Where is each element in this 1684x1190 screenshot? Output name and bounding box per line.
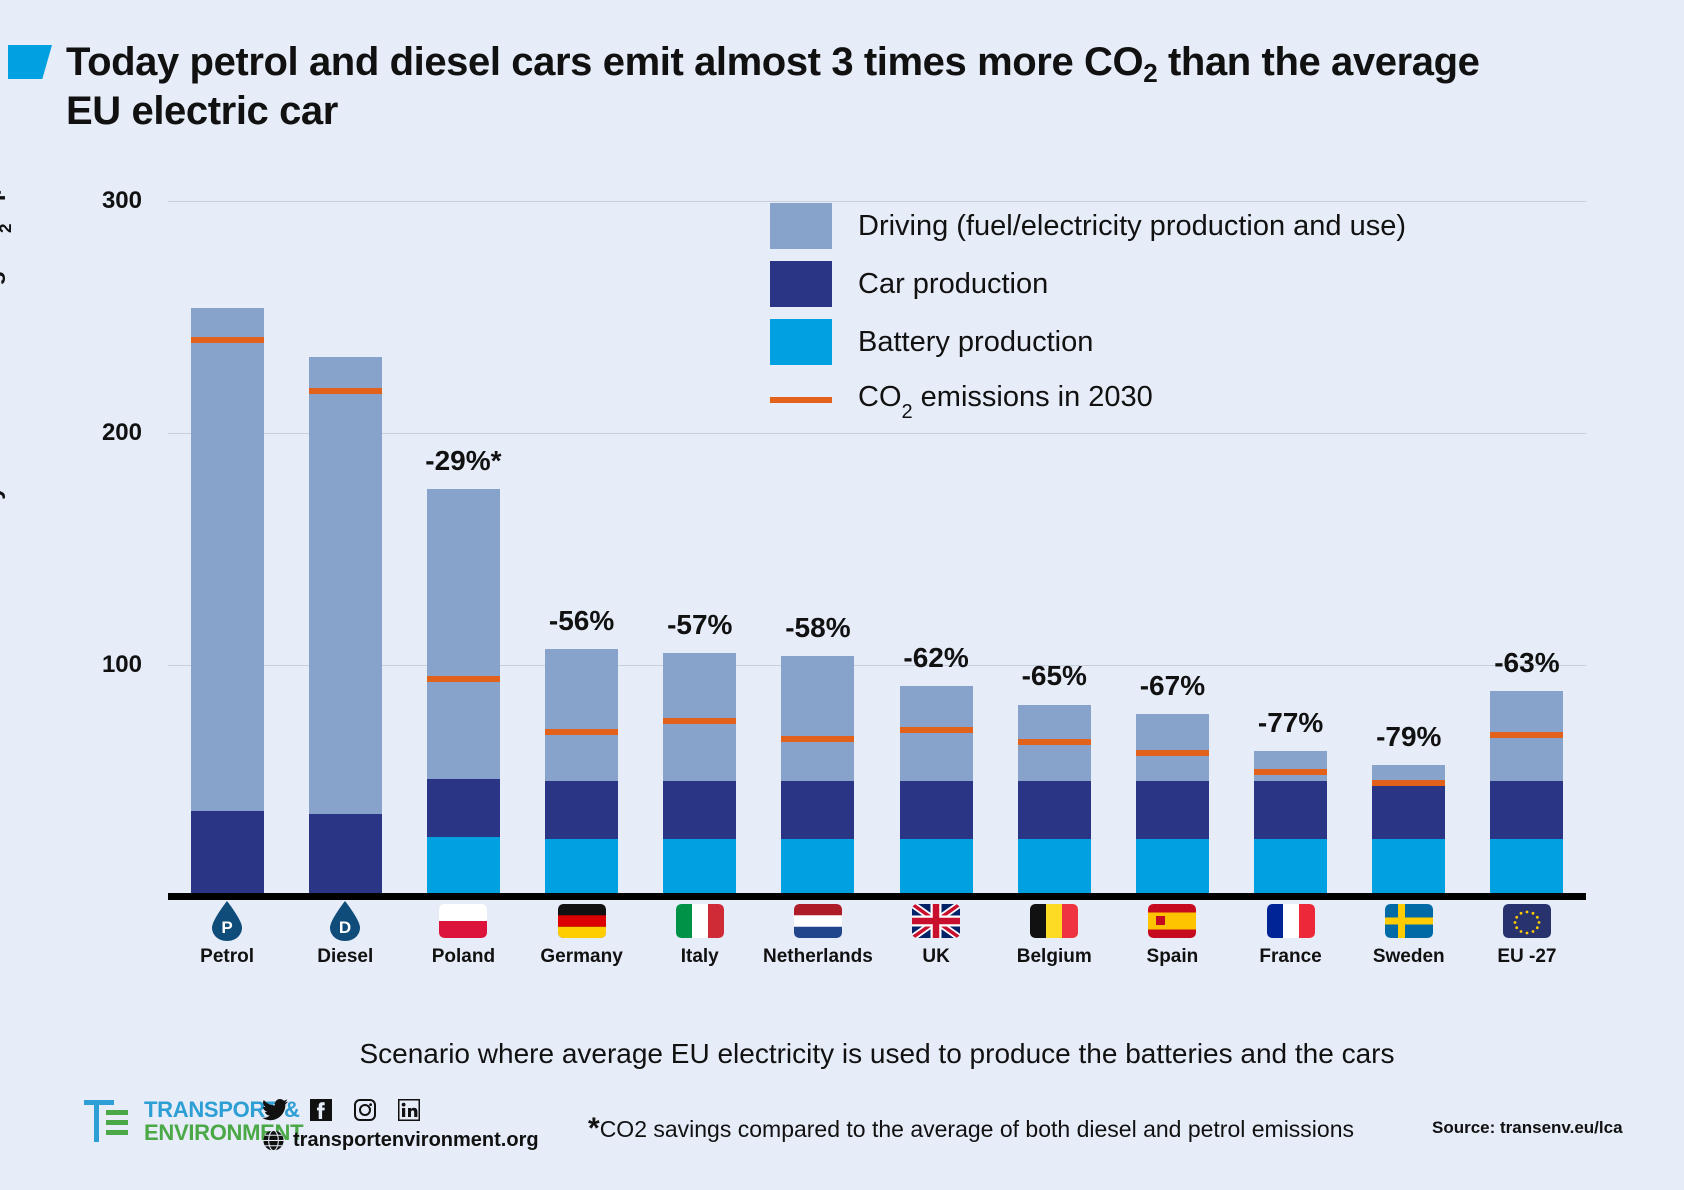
title-subscript: 2 xyxy=(1143,58,1157,88)
segment-driving xyxy=(545,649,618,781)
flag-uk xyxy=(912,904,960,938)
segment-battery-production xyxy=(1136,839,1209,897)
co2-2030-marker xyxy=(545,729,618,735)
segment-driving xyxy=(1254,751,1327,781)
flag-italy xyxy=(676,904,724,938)
segment-battery-production xyxy=(663,839,736,897)
bar-italy[interactable] xyxy=(663,653,736,897)
y-tick-label-200: 200 xyxy=(102,419,142,447)
footnote: *CO2 savings compared to the average of … xyxy=(588,1112,1354,1146)
segment-car-production xyxy=(545,781,618,839)
legend-item-3[interactable]: CO2 emissions in 2030 xyxy=(770,371,1406,429)
fuel-drop-icon: D xyxy=(327,900,363,942)
segment-driving xyxy=(900,686,973,781)
segment-battery-production xyxy=(427,837,500,897)
category-eu27: EU -27 xyxy=(1427,900,1627,968)
te-logo-icon xyxy=(82,1097,134,1145)
flag-belgium xyxy=(1030,904,1078,938)
globe-icon xyxy=(262,1129,285,1152)
footer: TRANSPORT & ENVIRONMENT transportenviron… xyxy=(0,1085,1684,1190)
segment-battery-production xyxy=(1018,839,1091,897)
footnote-text: CO2 savings compared to the average of b… xyxy=(600,1116,1354,1142)
segment-car-production xyxy=(1372,781,1445,839)
segment-driving xyxy=(309,357,382,814)
y-axis-title-pre: Life cycle emissions in gCO xyxy=(0,233,6,565)
co2-2030-marker xyxy=(1136,750,1209,756)
co2-2030-marker xyxy=(1490,732,1563,738)
data-label-sweden: -79% xyxy=(1309,721,1509,753)
legend-line-icon xyxy=(770,397,832,403)
segment-car-production xyxy=(1018,781,1091,839)
legend-label: CO2 emissions in 2030 xyxy=(858,381,1153,419)
co2-2030-marker xyxy=(900,727,973,733)
data-label-poland: -29%* xyxy=(363,445,563,477)
segment-car-production xyxy=(663,781,736,839)
y-axis-title-sub: 2 xyxy=(0,223,15,232)
svg-text:D: D xyxy=(339,918,351,937)
legend-swatch-icon xyxy=(770,261,832,307)
instagram-icon[interactable] xyxy=(354,1099,376,1121)
segment-car-production xyxy=(900,781,973,839)
co2-2030-marker xyxy=(781,736,854,742)
bar-sweden[interactable] xyxy=(1372,765,1445,897)
source-label: Source: transenv.eu/lca xyxy=(1432,1118,1623,1138)
bar-uk[interactable] xyxy=(900,686,973,897)
bar-belgium[interactable] xyxy=(1018,705,1091,898)
co2-2030-marker xyxy=(427,676,500,682)
flag-poland xyxy=(439,904,487,938)
segment-car-production xyxy=(427,779,500,837)
segment-car-production xyxy=(309,814,382,897)
co2-2030-marker xyxy=(1254,769,1327,775)
fuel-drop-icon: P xyxy=(209,900,245,942)
flag-eu xyxy=(1503,904,1551,938)
legend-item-0[interactable]: Driving (fuel/electricity production and… xyxy=(770,197,1406,255)
data-label-eu27: -63% xyxy=(1427,647,1627,679)
category-label: EU -27 xyxy=(1427,946,1627,968)
co2-2030-marker xyxy=(309,388,382,394)
bar-eu27[interactable] xyxy=(1490,691,1563,897)
segment-car-production xyxy=(1136,781,1209,839)
page-title: Today petrol and diesel cars emit almost… xyxy=(66,38,1606,136)
y-axis-title: Life cycle emissions in gCO2eq/km xyxy=(0,151,11,565)
legend: Driving (fuel/electricity production and… xyxy=(770,197,1406,429)
bar-spain[interactable] xyxy=(1136,714,1209,897)
brand-accent-icon xyxy=(8,45,52,79)
flag-france xyxy=(1267,904,1315,938)
segment-car-production xyxy=(1254,781,1327,839)
x-axis-categories: PPetrolDDieselPolandGermanyItalyNetherla… xyxy=(168,900,1586,970)
y-axis-title-post: eq/km xyxy=(0,151,6,223)
facebook-icon[interactable] xyxy=(310,1099,332,1121)
legend-item-2[interactable]: Battery production xyxy=(770,313,1406,371)
legend-label: Driving (fuel/electricity production and… xyxy=(858,210,1406,243)
y-axis-labels: 100200300 xyxy=(0,178,160,897)
twitter-icon[interactable] xyxy=(262,1099,288,1121)
website-link[interactable]: transportenvironment.org xyxy=(293,1129,539,1152)
segment-battery-production xyxy=(781,839,854,897)
segment-battery-production xyxy=(1372,839,1445,897)
x-axis-line xyxy=(168,893,1586,900)
y-tick-label-100: 100 xyxy=(102,651,142,679)
y-tick-label-300: 300 xyxy=(102,187,142,215)
bar-poland[interactable] xyxy=(427,489,500,897)
co2-2030-marker xyxy=(663,718,736,724)
data-label-spain: -67% xyxy=(1072,670,1272,702)
bar-germany[interactable] xyxy=(545,649,618,897)
legend-swatch-icon xyxy=(770,319,832,365)
title-line2: EU electric car xyxy=(66,89,338,133)
title-line1-pre: Today petrol and diesel cars emit almost… xyxy=(66,40,1143,84)
footnote-star: * xyxy=(588,1112,600,1145)
segment-driving xyxy=(191,308,264,811)
header: Today petrol and diesel cars emit almost… xyxy=(0,0,1684,150)
flag-netherlands xyxy=(794,904,842,938)
svg-text:P: P xyxy=(221,918,232,937)
legend-label: Battery production xyxy=(858,326,1093,359)
x-axis-caption: Scenario where average EU electricity is… xyxy=(168,1038,1586,1070)
legend-label: Car production xyxy=(858,268,1048,301)
title-line1-post: than the average xyxy=(1157,40,1479,84)
data-label-netherlands: -58% xyxy=(718,612,918,644)
flag-sweden xyxy=(1385,904,1433,938)
segment-battery-production xyxy=(900,839,973,897)
bar-netherlands[interactable] xyxy=(781,656,854,897)
flag-eu xyxy=(1427,900,1627,942)
segment-battery-production xyxy=(1254,839,1327,897)
social-links: transportenvironment.org xyxy=(262,1097,539,1152)
linkedin-icon[interactable] xyxy=(398,1099,420,1121)
bar-petrol[interactable] xyxy=(191,308,264,897)
segment-battery-production xyxy=(1490,839,1563,897)
co2-2030-marker xyxy=(191,337,264,343)
segment-driving xyxy=(781,656,854,781)
flag-spain xyxy=(1148,904,1196,938)
legend-swatch-icon xyxy=(770,203,832,249)
bar-france[interactable] xyxy=(1254,751,1327,897)
segment-battery-production xyxy=(545,839,618,897)
bar-diesel[interactable] xyxy=(309,357,382,897)
segment-car-production xyxy=(191,811,264,897)
segment-driving xyxy=(1372,765,1445,781)
legend-item-1[interactable]: Car production xyxy=(770,255,1406,313)
co2-2030-marker xyxy=(1372,780,1445,786)
flag-germany xyxy=(558,904,606,938)
co2-2030-marker xyxy=(1018,739,1091,745)
segment-car-production xyxy=(1490,781,1563,839)
segment-car-production xyxy=(781,781,854,839)
